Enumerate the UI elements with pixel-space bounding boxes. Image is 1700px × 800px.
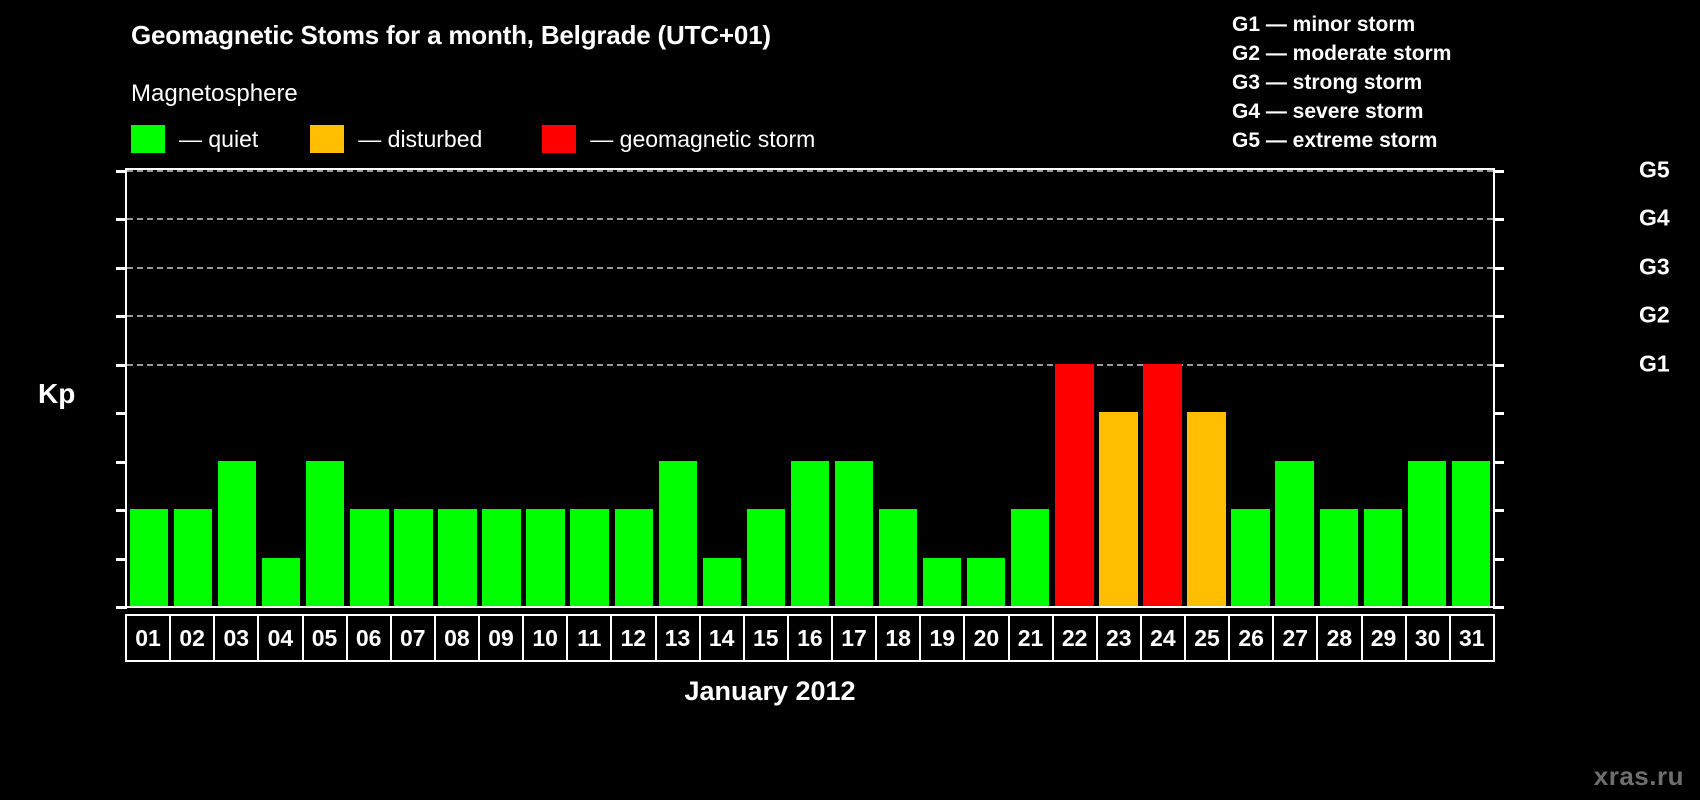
chart-canvas: Geomagnetic Stoms for a month, Belgrade … xyxy=(0,0,1700,800)
day-label-10[interactable]: 10 xyxy=(524,616,568,660)
bar-slot-day-07[interactable] xyxy=(391,170,435,606)
bar-slot-day-29[interactable] xyxy=(1361,170,1405,606)
y-tick-4 xyxy=(116,412,127,415)
day-label-29[interactable]: 29 xyxy=(1363,616,1407,660)
bar-series xyxy=(127,170,1493,606)
bar-slot-day-02[interactable] xyxy=(171,170,215,606)
legend-item-0: — quiet xyxy=(131,125,258,153)
day-label-20[interactable]: 20 xyxy=(965,616,1009,660)
bar-day-07[interactable] xyxy=(394,509,432,606)
y-tick-right-8 xyxy=(1493,218,1504,221)
y-tick-0 xyxy=(116,606,127,609)
day-label-02[interactable]: 02 xyxy=(171,616,215,660)
storm-scale-line-2: G2 — moderate storm xyxy=(1232,39,1451,68)
y-tick-5 xyxy=(116,364,127,367)
day-label-08[interactable]: 08 xyxy=(436,616,480,660)
bar-day-01[interactable] xyxy=(130,509,168,606)
bar-day-23[interactable] xyxy=(1099,412,1137,606)
day-label-05[interactable]: 05 xyxy=(304,616,348,660)
legend-item-2: — geomagnetic storm xyxy=(542,125,815,153)
bar-slot-day-24[interactable] xyxy=(1140,170,1184,606)
day-label-11[interactable]: 11 xyxy=(568,616,612,660)
bar-slot-day-25[interactable] xyxy=(1185,170,1229,606)
bar-slot-day-03[interactable] xyxy=(215,170,259,606)
bar-day-03[interactable] xyxy=(218,461,256,606)
bar-day-31[interactable] xyxy=(1452,461,1490,606)
bar-day-28[interactable] xyxy=(1320,509,1358,606)
y-tick-9 xyxy=(116,170,127,173)
bar-day-13[interactable] xyxy=(659,461,697,606)
legend-item-1: — disturbed xyxy=(310,125,482,153)
day-label-24[interactable]: 24 xyxy=(1142,616,1186,660)
bar-day-19[interactable] xyxy=(923,558,961,606)
bar-slot-day-12[interactable] xyxy=(612,170,656,606)
bar-slot-day-17[interactable] xyxy=(832,170,876,606)
bar-slot-day-04[interactable] xyxy=(259,170,303,606)
day-label-16[interactable]: 16 xyxy=(789,616,833,660)
bar-day-10[interactable] xyxy=(526,509,564,606)
day-label-26[interactable]: 26 xyxy=(1230,616,1274,660)
day-label-30[interactable]: 30 xyxy=(1407,616,1451,660)
bar-day-02[interactable] xyxy=(174,509,212,606)
bar-slot-day-21[interactable] xyxy=(1008,170,1052,606)
watermark: xras.ru xyxy=(1594,761,1684,792)
legend-item-label: — geomagnetic storm xyxy=(590,126,815,153)
x-axis-title-text: January 2012 xyxy=(684,676,855,706)
bar-slot-day-30[interactable] xyxy=(1405,170,1449,606)
day-label-14[interactable]: 14 xyxy=(701,616,745,660)
storm-scale-key: G1 — minor stormG2 — moderate stormG3 — … xyxy=(1232,10,1451,155)
color-swatch-green xyxy=(131,125,165,153)
bar-day-16[interactable] xyxy=(791,461,829,606)
bar-day-17[interactable] xyxy=(835,461,873,606)
color-swatch-orange xyxy=(310,125,344,153)
bar-slot-day-01[interactable] xyxy=(127,170,171,606)
x-axis-day-labels: 0102030405060708091011121314151617181920… xyxy=(125,614,1495,662)
y-tick-8 xyxy=(116,218,127,221)
legend-item-label: — quiet xyxy=(179,126,258,153)
day-label-01[interactable]: 01 xyxy=(127,616,171,660)
page-title: Geomagnetic Stoms for a month, Belgrade … xyxy=(131,20,771,51)
bar-slot-day-19[interactable] xyxy=(920,170,964,606)
bar-day-06[interactable] xyxy=(350,509,388,606)
y-tick-right-4 xyxy=(1493,412,1504,415)
g-axis-label-G1: G1 xyxy=(1639,350,1670,377)
y-tick-right-7 xyxy=(1493,267,1504,270)
day-label-17[interactable]: 17 xyxy=(833,616,877,660)
g-axis-label-G2: G2 xyxy=(1639,302,1670,329)
bar-day-29[interactable] xyxy=(1364,509,1402,606)
y-tick-right-0 xyxy=(1493,606,1504,609)
bar-day-18[interactable] xyxy=(879,509,917,606)
color-swatch-red xyxy=(542,125,576,153)
bar-slot-day-11[interactable] xyxy=(568,170,612,606)
bar-day-24[interactable] xyxy=(1143,364,1181,606)
day-label-31[interactable]: 31 xyxy=(1451,616,1493,660)
day-label-15[interactable]: 15 xyxy=(745,616,789,660)
bar-day-15[interactable] xyxy=(747,509,785,606)
day-label-12[interactable]: 12 xyxy=(612,616,656,660)
day-label-04[interactable]: 04 xyxy=(259,616,303,660)
bar-slot-day-20[interactable] xyxy=(964,170,1008,606)
bar-day-26[interactable] xyxy=(1231,509,1269,606)
day-label-18[interactable]: 18 xyxy=(877,616,921,660)
y-axis-title: Kp xyxy=(38,378,75,410)
day-label-19[interactable]: 19 xyxy=(921,616,965,660)
bar-slot-day-27[interactable] xyxy=(1273,170,1317,606)
storm-scale-line-1: G1 — minor storm xyxy=(1232,10,1451,39)
legend: — quiet— disturbed— geomagnetic storm xyxy=(131,124,815,154)
y-tick-right-3 xyxy=(1493,461,1504,464)
legend-item-label: — disturbed xyxy=(358,126,482,153)
y-tick-7 xyxy=(116,267,127,270)
day-label-25[interactable]: 25 xyxy=(1186,616,1230,660)
bar-day-14[interactable] xyxy=(703,558,741,606)
magnetosphere-label: Magnetosphere xyxy=(131,80,298,108)
bar-day-09[interactable] xyxy=(482,509,520,606)
bar-day-08[interactable] xyxy=(438,509,476,606)
y-tick-3 xyxy=(116,461,127,464)
bar-day-27[interactable] xyxy=(1275,461,1313,606)
y-tick-right-2 xyxy=(1493,509,1504,512)
g-axis-label-G3: G3 xyxy=(1639,253,1670,280)
bar-slot-day-28[interactable] xyxy=(1317,170,1361,606)
day-label-27[interactable]: 27 xyxy=(1274,616,1318,660)
y-tick-2 xyxy=(116,509,127,512)
day-label-28[interactable]: 28 xyxy=(1318,616,1362,660)
g-axis-label-G4: G4 xyxy=(1639,205,1670,232)
bar-slot-day-22[interactable] xyxy=(1052,170,1096,606)
bar-slot-day-10[interactable] xyxy=(524,170,568,606)
bar-day-25[interactable] xyxy=(1187,412,1225,606)
day-label-03[interactable]: 03 xyxy=(215,616,259,660)
g-axis-label-G5: G5 xyxy=(1639,157,1670,184)
bar-slot-day-13[interactable] xyxy=(656,170,700,606)
x-axis-title: January 2012 xyxy=(0,676,1700,707)
day-label-22[interactable]: 22 xyxy=(1054,616,1098,660)
bar-day-05[interactable] xyxy=(306,461,344,606)
bar-slot-day-26[interactable] xyxy=(1229,170,1273,606)
y-tick-6 xyxy=(116,315,127,318)
bar-day-12[interactable] xyxy=(615,509,653,606)
day-label-23[interactable]: 23 xyxy=(1098,616,1142,660)
bar-slot-day-23[interactable] xyxy=(1096,170,1140,606)
bar-day-21[interactable] xyxy=(1011,509,1049,606)
bar-slot-day-15[interactable] xyxy=(744,170,788,606)
bar-day-30[interactable] xyxy=(1408,461,1446,606)
bar-slot-day-16[interactable] xyxy=(788,170,832,606)
bar-slot-day-14[interactable] xyxy=(700,170,744,606)
day-label-07[interactable]: 07 xyxy=(392,616,436,660)
bar-slot-day-18[interactable] xyxy=(876,170,920,606)
day-label-21[interactable]: 21 xyxy=(1010,616,1054,660)
y-tick-right-1 xyxy=(1493,558,1504,561)
day-label-13[interactable]: 13 xyxy=(657,616,701,660)
bar-slot-day-31[interactable] xyxy=(1449,170,1493,606)
y-tick-right-6 xyxy=(1493,315,1504,318)
bar-day-20[interactable] xyxy=(967,558,1005,606)
day-label-09[interactable]: 09 xyxy=(480,616,524,660)
bar-day-22[interactable] xyxy=(1055,364,1093,606)
storm-scale-line-3: G3 — strong storm xyxy=(1232,68,1451,97)
storm-scale-line-5: G5 — extreme storm xyxy=(1232,126,1451,155)
bar-slot-day-09[interactable] xyxy=(480,170,524,606)
day-label-06[interactable]: 06 xyxy=(348,616,392,660)
bar-slot-day-05[interactable] xyxy=(303,170,347,606)
bar-slot-day-06[interactable] xyxy=(347,170,391,606)
bar-slot-day-08[interactable] xyxy=(435,170,479,606)
storm-scale-line-4: G4 — severe storm xyxy=(1232,97,1451,126)
bar-day-04[interactable] xyxy=(262,558,300,606)
y-tick-right-5 xyxy=(1493,364,1504,367)
y-tick-right-9 xyxy=(1493,170,1504,173)
bar-day-11[interactable] xyxy=(570,509,608,606)
y-tick-1 xyxy=(116,558,127,561)
